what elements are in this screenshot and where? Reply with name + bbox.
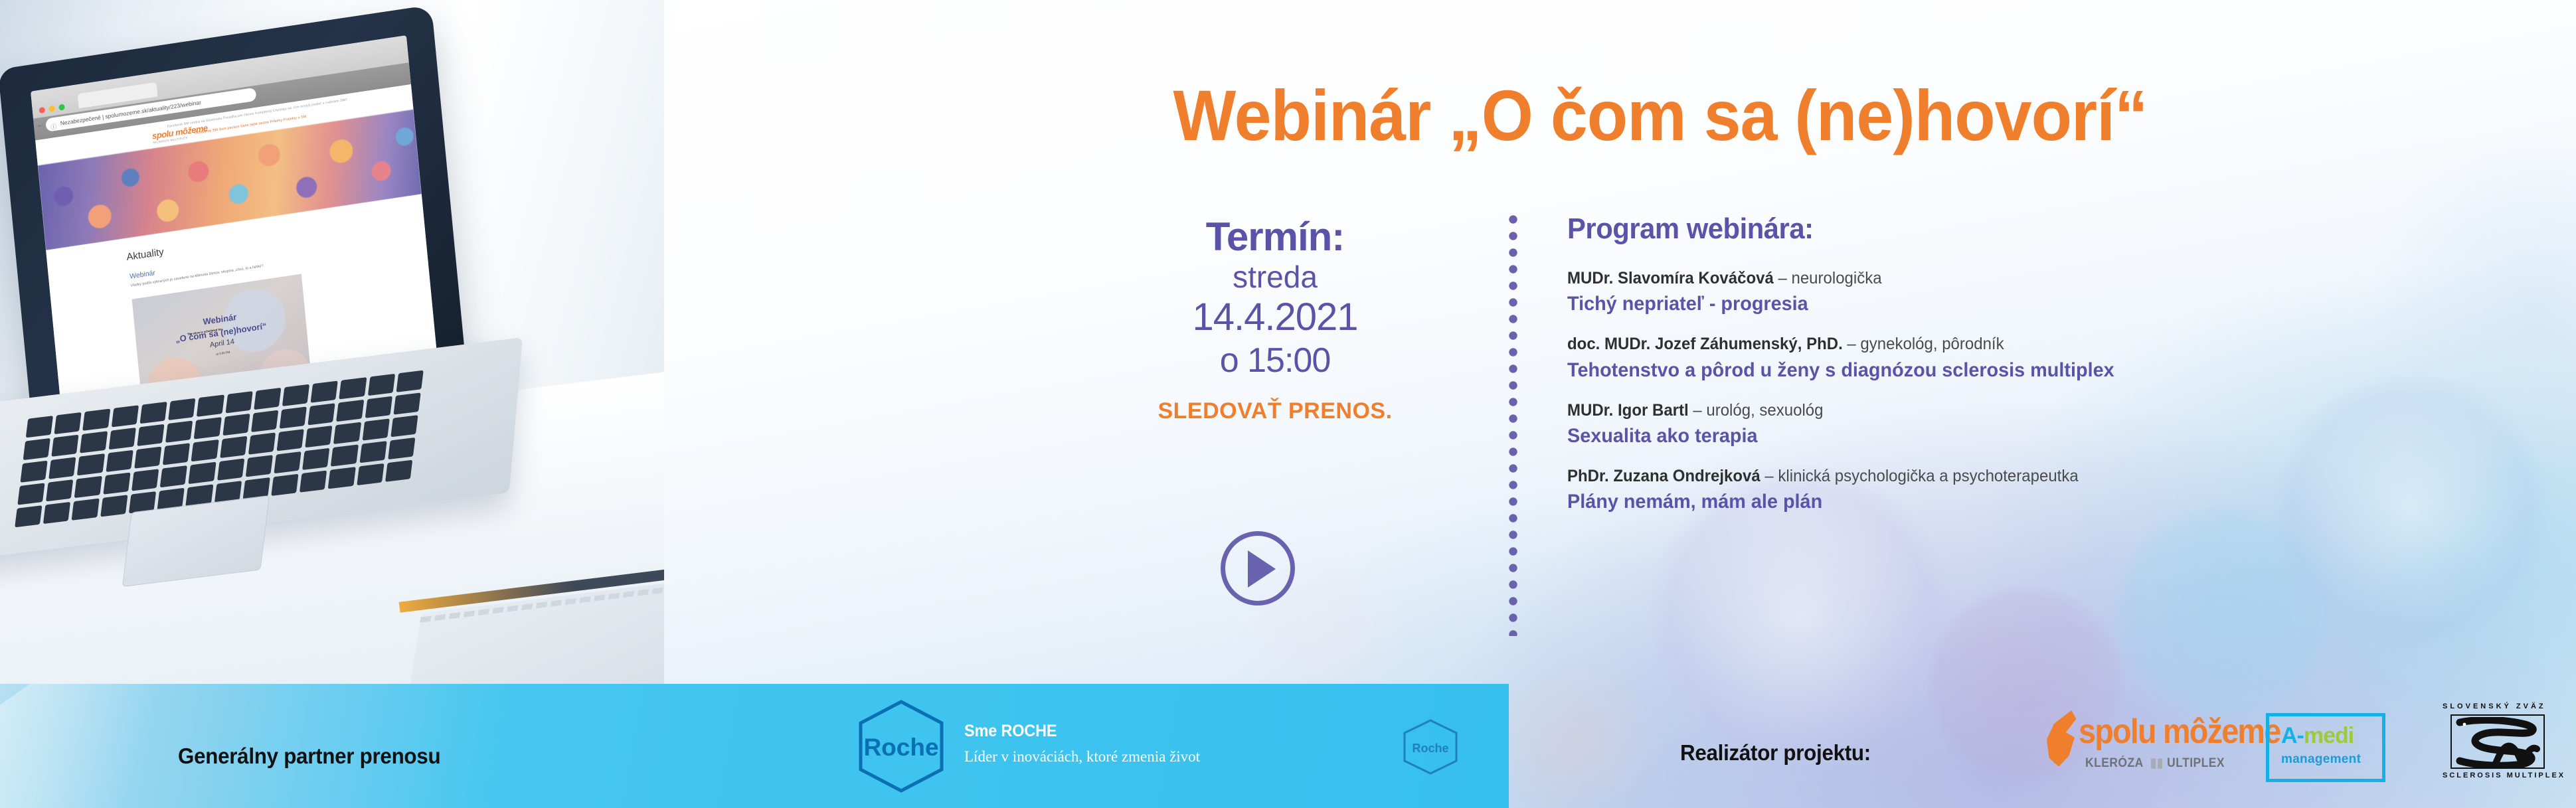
date-time: o 15:00	[1063, 340, 1488, 381]
program-item: MUDr. Igor Bartl – urológ, sexuológ Sexu…	[1567, 400, 2550, 449]
roche-claim-subline: Líder v inováciách, ktoré zmenia život	[964, 748, 1200, 766]
program-speaker: MUDr. Slavomíra Kováčová – neurologička	[1567, 268, 2511, 289]
speaker-role: neurologička	[1791, 269, 1881, 287]
spolu-mozeme-wordmark: spolu môžeme	[2079, 714, 2280, 749]
speaker-name: MUDr. Slavomíra Kováčová	[1567, 269, 1774, 287]
speaker-dash: –	[1774, 269, 1792, 287]
general-partner-label: Generálny partner prenosu	[178, 744, 440, 769]
program-heading: Program webinára:	[1567, 212, 2501, 246]
slovensky-zvaz-sm-logo: SLOVENSKÝ ZVÄZ SCLEROSIS MULTIPLEX	[2439, 702, 2558, 786]
speaker-role: klinická psychologička a psychoterapeutk…	[1778, 467, 2078, 485]
roche-claim-headline: Sme ROCHE	[964, 722, 1057, 741]
amedi-management-logo: A-medi management	[2266, 713, 2385, 782]
speaker-dash: –	[1843, 335, 1861, 353]
svg-text:Roche: Roche	[863, 734, 938, 761]
date-weekday: streda	[1063, 259, 1488, 295]
svg-text:Roche: Roche	[1412, 742, 1448, 755]
amedi-medi: medi	[2304, 723, 2354, 748]
date-label: Termín:	[1063, 216, 1488, 258]
program-topic: Plány nemám, mám ale plán	[1567, 489, 2511, 515]
speaker-role: urológ, sexuológ	[1706, 401, 1823, 420]
dotted-divider	[1509, 211, 1517, 636]
program-speaker: doc. MUDr. Jozef Záhumenský, PhD. – gyne…	[1567, 334, 2511, 355]
amedi-management-word: management	[2281, 752, 2361, 767]
speaker-dash: –	[1689, 401, 1707, 420]
spolu-mozeme-logo: spolu môžeme KLERÓZA ▮▮ ULTIPLEX	[2047, 705, 2246, 783]
article-title-link[interactable]: Webinár	[129, 269, 156, 281]
sm-logo-mark	[2450, 714, 2545, 769]
speaker-name: MUDr. Igor Bartl	[1567, 401, 1689, 420]
program-speaker: PhDr. Zuzana Ondrejková – klinická psych…	[1567, 466, 2511, 487]
program-item: MUDr. Slavomíra Kováčová – neurologička …	[1567, 268, 2550, 317]
roche-logo-small: Roche	[1401, 718, 1460, 775]
program-section: Program webinára: MUDr. Slavomíra Kováčo…	[1567, 212, 2550, 532]
program-topic: Sexualita ako terapia	[1567, 423, 2511, 449]
project-realizer-label: Realizátor projektu:	[1680, 740, 1871, 766]
webinar-banner: ← → ⟳ Nezabezpečené | spolumozeme.sk/akt…	[0, 0, 2576, 808]
laptop-screen: ← → ⟳ Nezabezpečené | spolumozeme.sk/akt…	[31, 35, 437, 408]
spolu-mozeme-subtitle: KLERÓZA ▮▮ ULTIPLEX	[2085, 756, 2225, 771]
date-value: 14.4.2021	[1063, 295, 1488, 340]
sub-separator: ▮▮	[2146, 756, 2167, 770]
date-block: Termín: streda 14.4.2021 o 15:00 SLEDOVA…	[1063, 216, 1488, 424]
sub-multiplex: ULTIPLEX	[2167, 756, 2225, 770]
sm-logo-top-text: SLOVENSKÝ ZVÄZ	[2443, 702, 2546, 710]
amedi-a: A-	[2281, 723, 2304, 748]
speaker-role: gynekológ, pôrodník	[1860, 335, 2004, 353]
program-speaker: MUDr. Igor Bartl – urológ, sexuológ	[1567, 400, 2511, 421]
program-topic: Tichý nepriateľ - progresia	[1567, 291, 2511, 317]
program-item: doc. MUDr. Jozef Záhumenský, PhD. – gyne…	[1567, 334, 2550, 382]
program-item: PhDr. Zuzana Ondrejková – klinická psych…	[1567, 466, 2550, 515]
page-title: Webinár „O čom sa (ne)hovorí“	[845, 80, 2475, 151]
window-controls-icon	[39, 104, 64, 114]
roche-logo: Roche	[857, 699, 946, 793]
speaker-name: PhDr. Zuzana Ondrejková	[1567, 467, 1760, 485]
watch-stream-cta[interactable]: SLEDOVAŤ PRENOS.	[1063, 398, 1488, 424]
speaker-name: doc. MUDr. Jozef Záhumenský, PhD.	[1567, 335, 1843, 353]
play-button-icon[interactable]	[1221, 531, 1295, 606]
program-topic: Tehotenstvo a pôrod u ženy s diagnózou s…	[1567, 357, 2511, 383]
sm-logo-bottom-text: SCLEROSIS MULTIPLEX	[2443, 771, 2565, 779]
laptop-photo: ← → ⟳ Nezabezpečené | spolumozeme.sk/akt…	[0, 0, 664, 684]
sub-skleroza: KLERÓZA	[2085, 756, 2143, 770]
amedi-wordmark: A-medi	[2281, 723, 2354, 749]
speaker-dash: –	[1760, 467, 1778, 485]
section-heading: Aktuality	[126, 246, 165, 263]
